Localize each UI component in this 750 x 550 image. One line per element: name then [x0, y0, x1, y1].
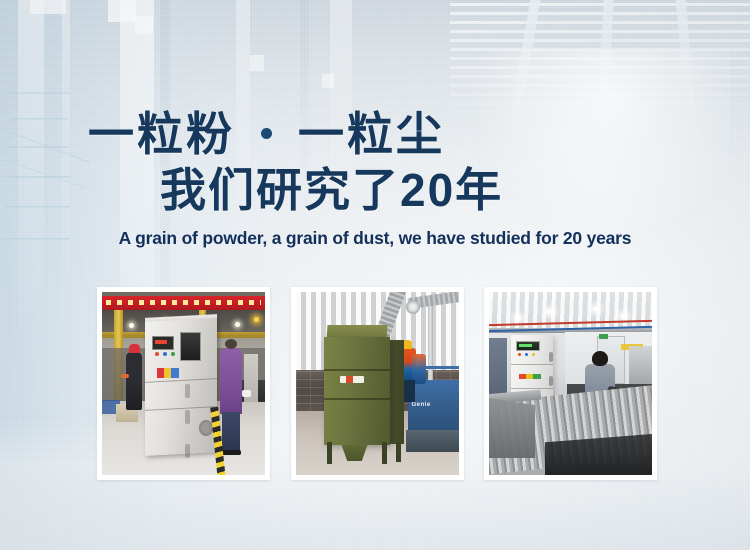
- photo3-door-handle: [549, 352, 553, 362]
- photo-frame-1[interactable]: [97, 287, 270, 480]
- photo2-fan-wheel: [406, 300, 420, 314]
- photo2-lift-brand-label: Genie: [412, 402, 431, 408]
- photo2-cabinet-side: [388, 340, 404, 444]
- photo3-lamp: [547, 310, 553, 314]
- headline-line-1: 一粒粉一粒尘: [88, 108, 445, 160]
- photo2-support-leg: [396, 442, 401, 462]
- photo3-background-machine: [629, 346, 652, 386]
- photo3-door-handle: [549, 376, 553, 386]
- photo2-cabinet-seam: [324, 369, 390, 371]
- photo3-button: [532, 353, 535, 356]
- photo3-cabinet-seam: [511, 388, 553, 389]
- photo3-button: [518, 353, 521, 356]
- photo1-door-handle: [185, 384, 190, 398]
- photo3-lamp: [515, 316, 521, 320]
- subtitle-text: A grain of powder, a grain of dust, we h…: [0, 228, 750, 249]
- headline-line-1-part-2: 一粒尘: [298, 108, 445, 160]
- photo3-left-equipment: [489, 338, 507, 400]
- photo3-display-screen: [516, 341, 540, 351]
- photo2-scissor-lift-base: [406, 430, 459, 452]
- photo1-control-panel: [152, 336, 174, 350]
- photo1-door-handle: [185, 444, 190, 458]
- photo1-lamp: [254, 317, 259, 322]
- photo2-green-dust-collector: [324, 337, 390, 445]
- photo-dust-collector-factory-floor: [102, 292, 265, 475]
- photo2-support-leg: [327, 442, 332, 464]
- photo1-lamp: [129, 323, 134, 328]
- headline-separator-dot: [261, 128, 272, 139]
- photo3-brand-sticker: [519, 374, 541, 379]
- photo2-support-leg: [382, 442, 387, 464]
- headline-line-1-part-1: 一粒粉: [88, 108, 235, 160]
- photo-frame-3[interactable]: [484, 287, 657, 480]
- photo1-worker-purple-shirt: [220, 348, 242, 414]
- photo1-door-handle: [185, 410, 190, 424]
- photo1-red-banner: [102, 296, 265, 310]
- photo1-glove: [242, 390, 251, 397]
- photo1-display-screen: [180, 332, 201, 361]
- photo1-button: [171, 352, 175, 356]
- photo2-brand-plate: [340, 376, 364, 383]
- photo3-exit-sign: [599, 334, 608, 339]
- promo-banner: 一粒粉一粒尘 我们研究了20年 A grain of powder, a gra…: [0, 0, 750, 550]
- photo1-button: [155, 352, 159, 356]
- photo2-cabinet-seam: [324, 398, 390, 400]
- photo-frame-2[interactable]: Genie: [291, 287, 464, 480]
- photo1-worker-legs: [222, 412, 240, 452]
- photo1-lamp: [235, 322, 240, 327]
- photo3-lamp: [593, 307, 599, 311]
- photo3-side-table: [489, 398, 535, 458]
- photo1-button: [163, 352, 167, 356]
- headline-line-2: 我们研究了20年: [160, 164, 503, 216]
- photo1-worker-dark-uniform: [126, 352, 142, 410]
- photo3-cabinet-seam: [511, 364, 553, 365]
- photo-white-collector-assembly-shop: [489, 292, 652, 475]
- photo-gallery: Genie: [97, 287, 657, 480]
- photo3-button: [525, 353, 528, 356]
- photo3-lamp: [621, 314, 627, 318]
- photo-green-dust-collector-workshop: Genie: [296, 292, 459, 475]
- photo1-brand-sticker: [157, 368, 179, 378]
